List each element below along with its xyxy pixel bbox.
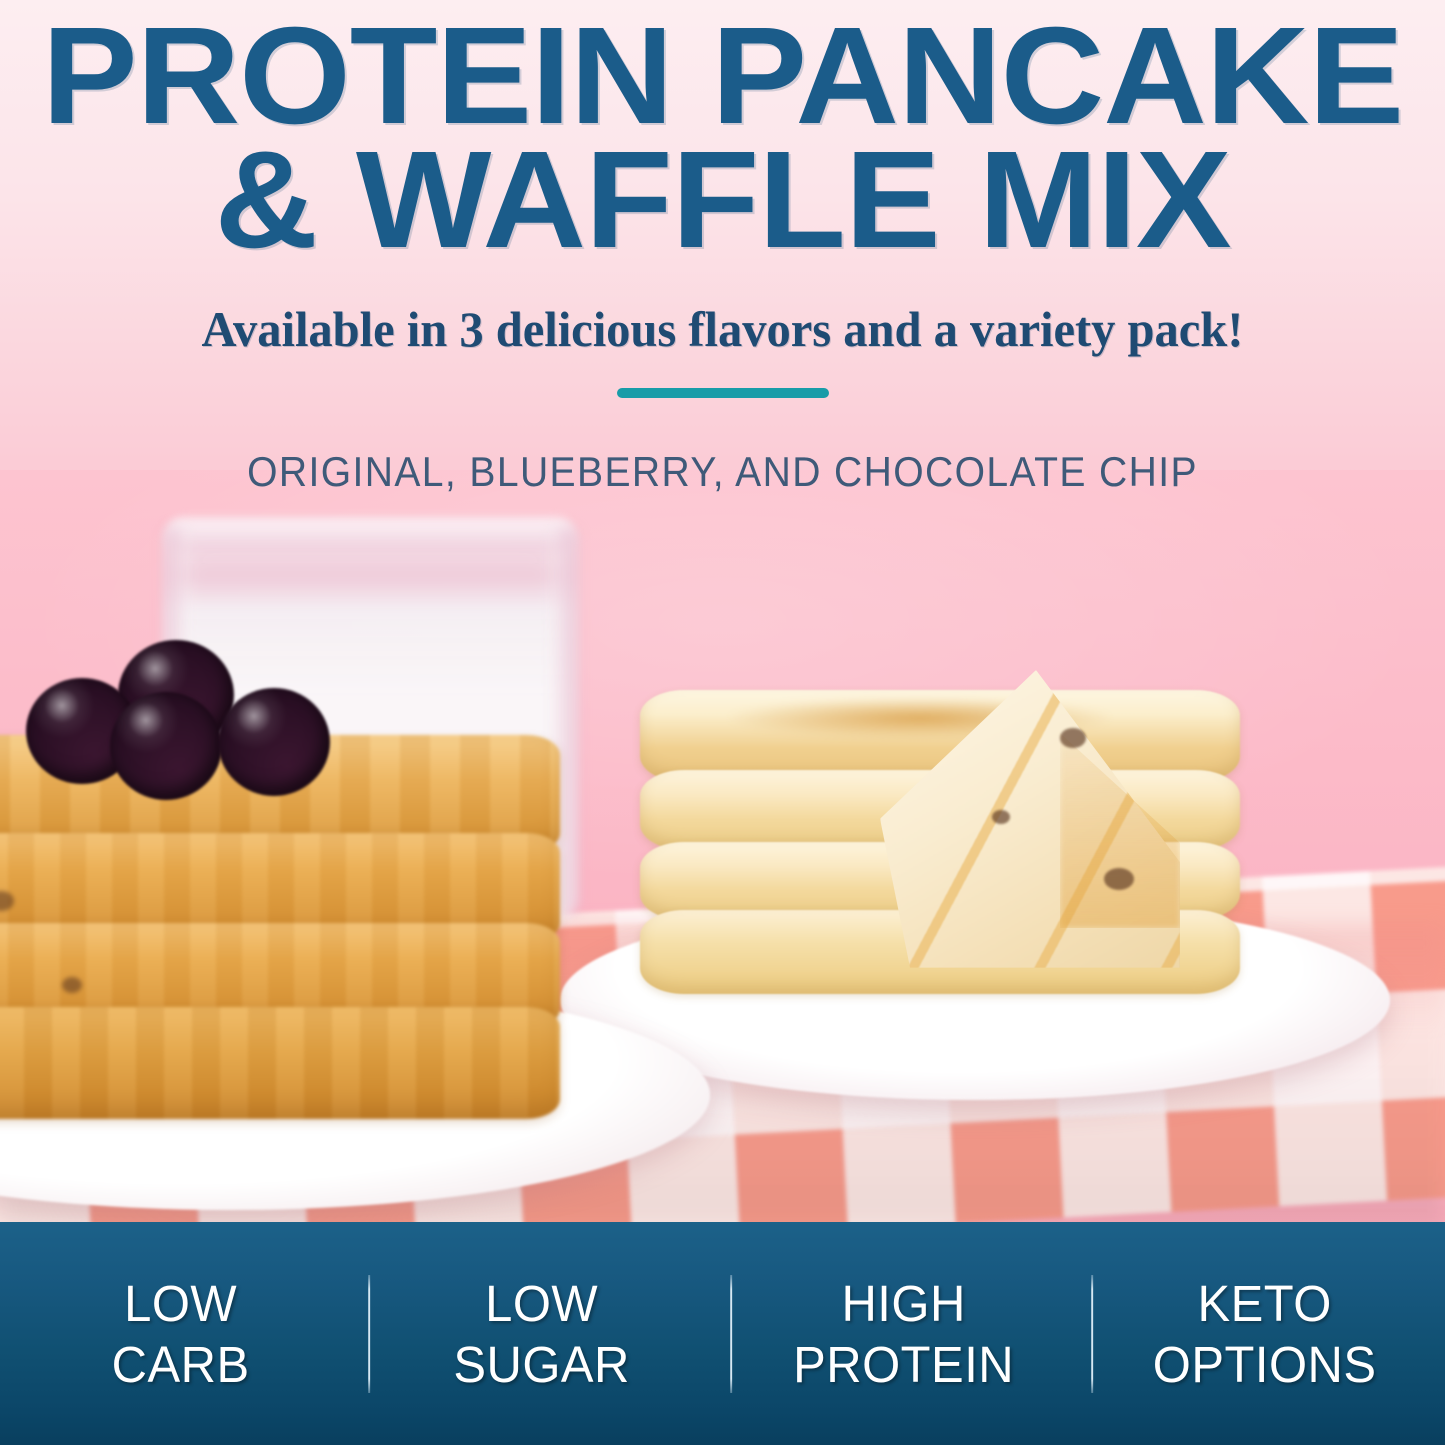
milk-glass-rim <box>168 518 572 552</box>
chocolate-chip <box>1060 728 1086 748</box>
subtitle: Available in 3 delicious flavors and a v… <box>22 300 1424 358</box>
benefits-banner: LOW CARB LOW SUGAR HIGH PROTEIN KETO OPT… <box>0 1222 1445 1445</box>
flavors-list: ORIGINAL, BLUEBERRY, AND CHOCOLATE CHIP <box>51 448 1395 496</box>
benefit-keto-options: KETO OPTIONS <box>1091 1272 1438 1394</box>
product-marketing-poster: PROTEIN PANCAKE & WAFFLE MIX Available i… <box>0 0 1445 1445</box>
blueberry <box>218 688 330 796</box>
blueberry <box>110 692 222 800</box>
benefit-high-protein: HIGH PROTEIN <box>730 1272 1077 1394</box>
waffle-layer <box>0 1007 560 1119</box>
waffle-chocolate-chip <box>62 977 82 993</box>
chocolate-chip <box>992 810 1010 824</box>
page-title: PROTEIN PANCAKE & WAFFLE MIX <box>0 14 1445 262</box>
food-photo <box>0 470 1445 1225</box>
chocolate-chip <box>1104 868 1134 890</box>
benefit-low-carb: LOW CARB <box>7 1272 354 1394</box>
teal-divider <box>617 388 829 398</box>
benefit-low-sugar: LOW SUGAR <box>368 1272 715 1394</box>
